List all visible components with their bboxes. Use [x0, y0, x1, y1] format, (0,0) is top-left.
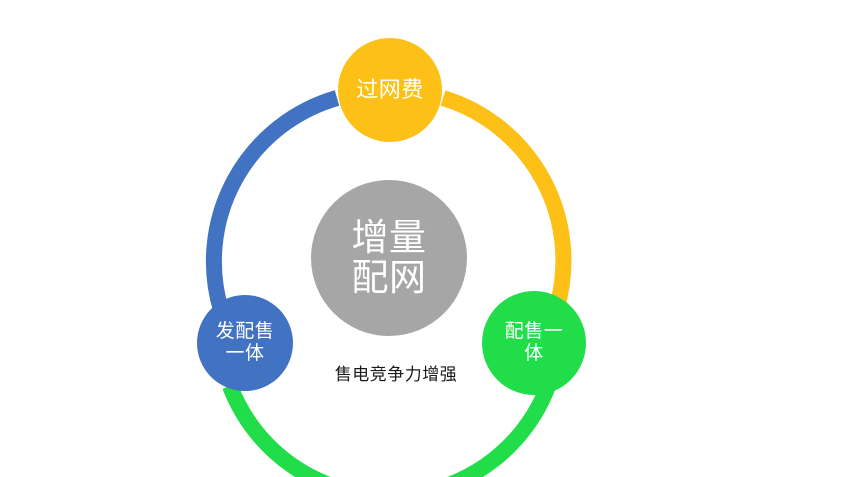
- node-right-distribution-sales-integration[interactable]: 配售一 体: [482, 291, 586, 395]
- center-node-label: 增量 配网: [352, 218, 427, 298]
- bottom-caption-label: 售电竞争力增强: [306, 360, 486, 385]
- node-left-label: 发配售 一体: [216, 321, 275, 366]
- node-top-transmission-fee[interactable]: 过网费: [338, 38, 442, 142]
- arc-bottom-green-path: [230, 386, 548, 477]
- node-left-generation-distribution-sales-integration[interactable]: 发配售 一体: [197, 295, 293, 391]
- node-top-label: 过网费: [356, 78, 424, 103]
- node-right-label: 配售一 体: [497, 321, 571, 366]
- diagram-canvas: 增量 配网 过网费 发配售 一体 配售一 体 售电竞争力增强: [0, 0, 844, 477]
- center-node-increment-distribution-network[interactable]: 增量 配网: [311, 180, 467, 336]
